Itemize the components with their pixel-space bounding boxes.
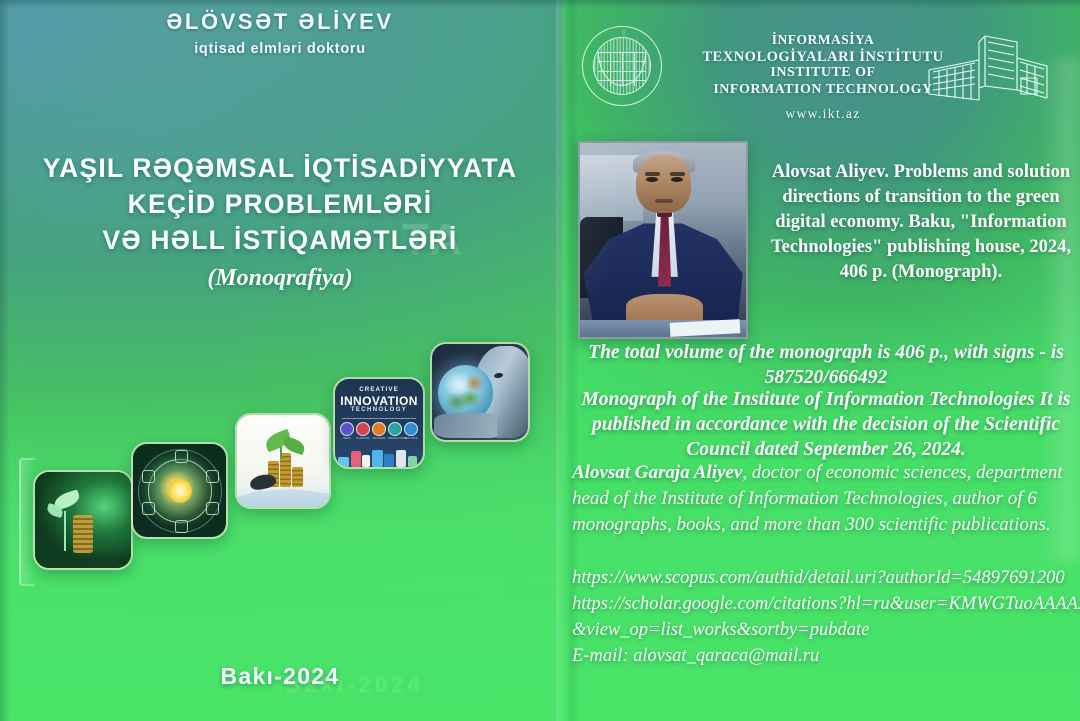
author-bio-name: Alovsat Garaja Aliyev	[572, 462, 742, 483]
glowing-bulb-network-card	[131, 442, 228, 539]
creative-innovation-technology-card: CREATIVE INNOVATION TECHNOLOGY IDEAS PLA…	[333, 377, 425, 469]
scopus-link[interactable]: https://www.scopus.com/authid/detail.uri…	[572, 565, 1080, 591]
book-citation: Alovsat Aliyev. Problems and solution di…	[765, 160, 1077, 285]
network-node-icon	[206, 502, 219, 515]
illustration-card-strip: CREATIVE INNOVATION TECHNOLOGY IDEAS PLA…	[0, 0, 560, 721]
sprout-coins-card	[33, 470, 133, 570]
device-icon	[384, 454, 394, 467]
device-icon	[396, 450, 407, 467]
divider	[342, 418, 416, 419]
network-node-icon	[206, 470, 219, 483]
production-icon	[388, 422, 402, 436]
foreground-object	[249, 472, 277, 491]
soil-layer	[35, 551, 131, 568]
solution-icon	[404, 422, 418, 436]
card-headline-innovation: INNOVATION	[335, 394, 423, 408]
front-cover-panel: ƏLÖVSƏT ƏLİYEV iqtisad elmləri doktoru T…	[0, 0, 560, 721]
hand-shape	[237, 485, 329, 507]
network-node-icon	[175, 520, 188, 533]
card-headline-technology: TECHNOLOGY	[335, 407, 423, 413]
lightbulb-icon	[168, 479, 192, 503]
email-line[interactable]: E-mail: alovsat_qaraca@mail.ru	[572, 643, 1080, 669]
photo-edge-left	[0, 0, 10, 721]
card-headline-creative: CREATIVE	[335, 386, 423, 393]
device-icon	[362, 455, 370, 467]
process-icon	[372, 422, 386, 436]
scholar-link[interactable]: https://scholar.google.com/citations?hl=…	[572, 591, 1080, 643]
ideas-icon	[340, 422, 354, 436]
back-cover-panel: İNFORMASİYA TEXNOLOGİYALARI İNSTİTUTU IN…	[560, 0, 1080, 721]
device-icon	[372, 450, 383, 467]
network-node-icon	[142, 470, 155, 483]
coin-stack-icon	[292, 467, 303, 487]
infographic-icon-row	[340, 422, 418, 436]
network-node-icon	[142, 502, 155, 515]
device-illustrations	[335, 437, 423, 467]
device-icon	[408, 456, 417, 467]
planning-icon	[356, 422, 370, 436]
network-node-icon	[175, 450, 188, 463]
plant-on-coins-card	[235, 413, 331, 509]
robot-arm	[434, 413, 497, 438]
robot-globe-card	[430, 342, 530, 442]
institute-building-icon	[925, 28, 1050, 110]
device-icon	[351, 451, 361, 467]
photo-edge-top	[0, 0, 1080, 8]
device-icon	[338, 457, 349, 467]
author-bio: Alovsat Garaja Aliyev, doctor of economi…	[572, 460, 1080, 538]
place-and-year: Bakı-2024	[0, 663, 560, 690]
monograph-council-note: Monograph of the Institute of Informatio…	[568, 387, 1080, 462]
coin-stack-icon	[73, 515, 93, 553]
institute-emblem-icon	[582, 26, 662, 106]
plant-stem	[64, 511, 66, 551]
author-links: https://www.scopus.com/authid/detail.uri…	[572, 565, 1080, 669]
author-portrait-photo	[578, 141, 748, 339]
book-cover-photo: ƏLÖVSƏT ƏLİYEV iqtisad elmləri doktoru T…	[0, 0, 1080, 721]
monograph-volume-note: The total volume of the monograph is 406…	[568, 340, 1080, 390]
